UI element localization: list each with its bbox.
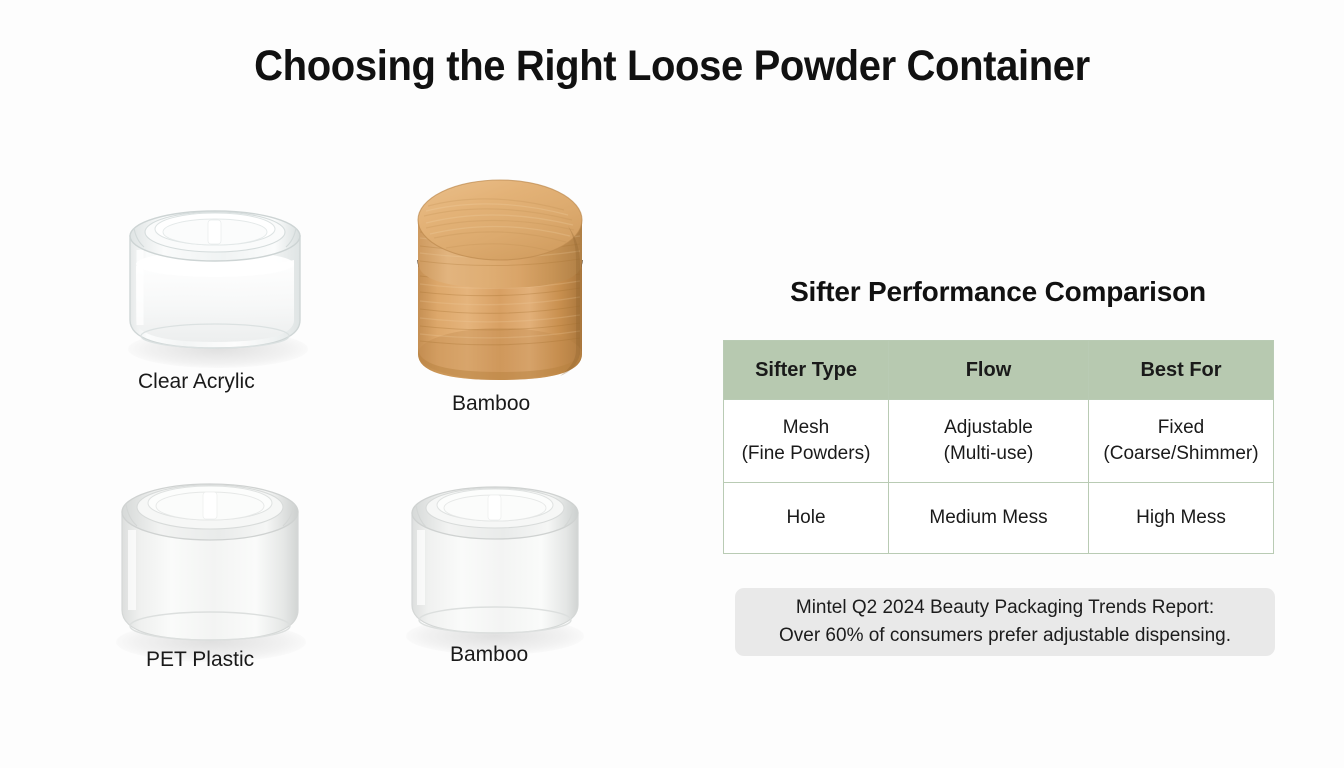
column-header-sifter-type: Sifter Type [724, 341, 889, 400]
product-clear-acrylic: Clear Acrylic [120, 180, 310, 380]
clear-acrylic-jar-icon [120, 180, 310, 370]
footnote-line-1: Mintel Q2 2024 Beauty Packaging Trends R… [796, 594, 1214, 622]
cell-line-2: (Fine Powders) [728, 441, 884, 467]
product-label-bamboo-top: Bamboo [452, 392, 530, 416]
cell-line-1: Fixed [1093, 415, 1269, 441]
table-row: Hole Medium Mess High Mess [724, 483, 1274, 554]
cell-sifter-type-1: Mesh (Fine Powders) [724, 400, 889, 483]
comparison-table-heading: Sifter Performance Comparison [723, 276, 1273, 308]
product-label-pet-plastic: PET Plastic [146, 648, 254, 672]
source-footnote: Mintel Q2 2024 Beauty Packaging Trends R… [735, 588, 1275, 656]
cell-best-for-1: Fixed (Coarse/Shimmer) [1089, 400, 1274, 483]
cell-sifter-type-2: Hole [724, 483, 889, 554]
page-title: Choosing the Right Loose Powder Containe… [47, 42, 1297, 91]
cell-line-2: (Coarse/Shimmer) [1093, 441, 1269, 467]
cell-line-1: Mesh [728, 415, 884, 441]
product-gallery: Clear Acrylic [0, 150, 700, 710]
table-header-row: Sifter Type Flow Best For [724, 341, 1274, 400]
product-label-bamboo-bottom: Bamboo [450, 643, 528, 667]
footnote-line-2: Over 60% of consumers prefer adjustable … [779, 622, 1231, 650]
pet-plastic-jar-icon [110, 450, 310, 650]
bamboo-jar-icon [400, 168, 600, 398]
cell-flow-2: Medium Mess [889, 483, 1089, 554]
table-row: Mesh (Fine Powders) Adjustable (Multi-us… [724, 400, 1274, 483]
column-header-flow: Flow [889, 341, 1089, 400]
column-header-best-for: Best For [1089, 341, 1274, 400]
frosted-jar-icon [400, 455, 590, 645]
sifter-performance-table: Sifter Type Flow Best For Mesh (Fine Pow… [723, 340, 1274, 554]
product-bamboo-bottom: Bamboo [400, 455, 590, 670]
cell-flow-1: Adjustable (Multi-use) [889, 400, 1089, 483]
product-bamboo-closed: Bamboo [400, 168, 600, 408]
cell-line-1: Adjustable [893, 415, 1084, 441]
product-pet-plastic: PET Plastic [110, 450, 310, 670]
product-label-clear-acrylic: Clear Acrylic [138, 370, 255, 394]
cell-line-2: (Multi-use) [893, 441, 1084, 467]
cell-best-for-2: High Mess [1089, 483, 1274, 554]
